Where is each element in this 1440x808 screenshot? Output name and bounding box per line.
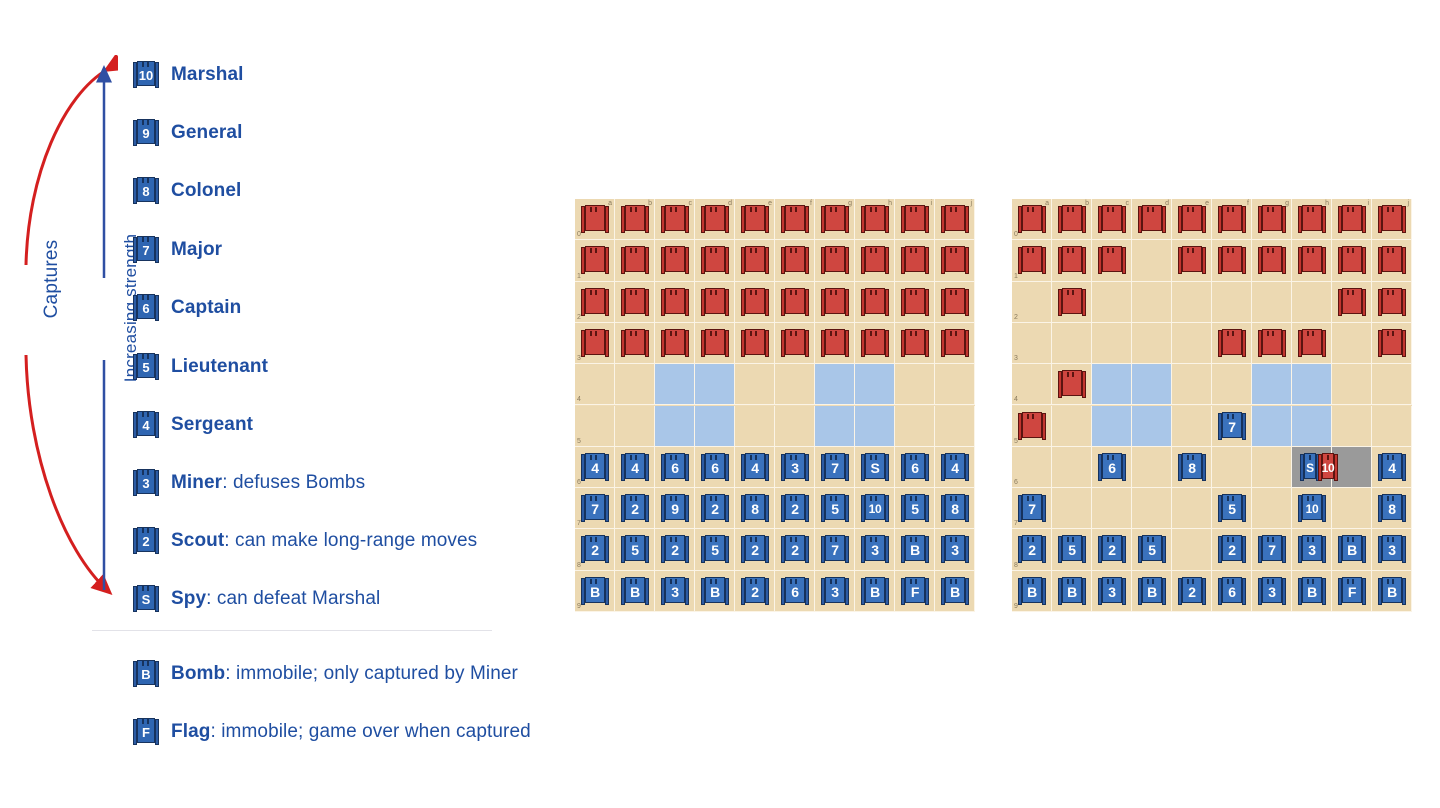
blue-piece[interactable]: 2 [1098, 534, 1126, 564]
red-piece[interactable] [861, 287, 889, 317]
red-piece[interactable] [1298, 204, 1326, 234]
board-cell[interactable] [735, 364, 775, 405]
piece-post-right [645, 454, 649, 481]
red-piece[interactable] [661, 245, 689, 275]
piece-crenellation [790, 331, 800, 336]
piece-post-right [885, 495, 889, 522]
red-piece[interactable] [781, 328, 809, 358]
piece-crenellation [630, 331, 640, 336]
red-piece[interactable] [661, 328, 689, 358]
blue-piece[interactable]: B [1018, 576, 1046, 606]
red-piece[interactable] [781, 245, 809, 275]
piece-post-right [1322, 536, 1326, 563]
board-cell[interactable] [855, 364, 895, 405]
board-cell[interactable] [1172, 364, 1212, 405]
board-cell[interactable] [1132, 240, 1172, 281]
piece-post-right [925, 578, 929, 605]
blue-piece[interactable]: B [1338, 534, 1366, 564]
blue-piece[interactable]: 5 [1218, 493, 1246, 523]
red-piece[interactable] [581, 204, 609, 234]
piece-body: 10 [1302, 494, 1322, 520]
piece-slot: B [615, 571, 655, 612]
blue-piece[interactable]: 10 [1298, 493, 1326, 523]
piece-rank-text: 2 [1188, 581, 1196, 599]
piece-body: 7 [825, 453, 845, 479]
blue-piece[interactable]: 8 [941, 493, 969, 523]
piece-rank-text: 7 [1028, 498, 1036, 516]
blue-piece[interactable]: S [861, 452, 889, 482]
piece-body [1262, 329, 1282, 355]
blue-piece[interactable]: 7 [821, 452, 849, 482]
blue-piece[interactable]: 4 [581, 452, 609, 482]
piece-post-right [1402, 289, 1406, 316]
blue-piece[interactable]: 2 [781, 493, 809, 523]
board-cell[interactable]: 4 [1012, 364, 1052, 405]
blue-piece[interactable]: 8 [1378, 493, 1406, 523]
mid-game-board[interactable]: a0bcdefghij1234567897684751082525273B3BB… [1012, 199, 1412, 612]
blue-piece[interactable]: 2 [621, 493, 649, 523]
piece-post-right [965, 206, 969, 233]
board-cell[interactable] [655, 406, 695, 447]
red-piece[interactable] [621, 245, 649, 275]
board-cell[interactable] [735, 406, 775, 447]
blue-piece[interactable]: B [941, 576, 969, 606]
piece-slot [1252, 240, 1292, 281]
piece-body: 6 [665, 453, 685, 479]
red-piece[interactable] [701, 204, 729, 234]
board-cell[interactable] [1212, 447, 1252, 488]
board-cell[interactable] [1132, 447, 1172, 488]
blue-piece[interactable]: 5 [901, 493, 929, 523]
red-piece[interactable] [1378, 204, 1406, 234]
blue-piece[interactable]: 3 [1378, 534, 1406, 564]
chip-post-right [155, 470, 159, 496]
blue-piece[interactable]: 5 [821, 493, 849, 523]
blue-piece[interactable]: B [1138, 576, 1166, 606]
board-cell[interactable] [1172, 282, 1212, 323]
piece-slot: 7 [815, 529, 855, 570]
blue-piece[interactable]: 5 [621, 534, 649, 564]
red-piece[interactable] [661, 204, 689, 234]
board-cell[interactable] [775, 364, 815, 405]
piece-post-right [1322, 247, 1326, 274]
board-cell[interactable] [1172, 488, 1212, 529]
board-cell[interactable] [935, 406, 975, 447]
red-piece[interactable] [1098, 245, 1126, 275]
piece-post-right [1322, 578, 1326, 605]
blue-piece[interactable]: B [1058, 576, 1086, 606]
piece-rank-text: B [1387, 581, 1397, 599]
chip-body: 9 [137, 119, 155, 144]
blue-piece[interactable]: 6 [1098, 452, 1126, 482]
piece-slot: B [1372, 571, 1412, 612]
rank-legend-panel: Captures Increasing strength 10Marshal9G… [0, 0, 560, 808]
board-cell[interactable] [775, 406, 815, 447]
board-cell[interactable] [895, 406, 935, 447]
piece-crenellation [1267, 331, 1277, 336]
piece-body: 2 [1102, 535, 1122, 561]
red-piece[interactable] [861, 204, 889, 234]
red-piece[interactable] [621, 328, 649, 358]
blue-piece[interactable]: 4 [941, 452, 969, 482]
red-piece[interactable] [1138, 204, 1166, 234]
piece-slot [855, 323, 895, 364]
red-piece[interactable] [1218, 204, 1246, 234]
piece-body: 5 [905, 494, 925, 520]
blue-piece[interactable]: 7 [1218, 411, 1246, 441]
piece-body: 5 [1142, 535, 1162, 561]
red-piece[interactable] [1018, 245, 1046, 275]
piece-slot [775, 282, 815, 323]
board-cell[interactable] [1212, 282, 1252, 323]
blue-piece[interactable]: 4 [621, 452, 649, 482]
piece-slot [735, 240, 775, 281]
piece-slot [655, 199, 695, 240]
board-cell[interactable] [1172, 323, 1212, 364]
piece-slot [1332, 240, 1372, 281]
red-piece[interactable] [941, 328, 969, 358]
red-piece[interactable] [1058, 204, 1086, 234]
piece-post-right [1322, 206, 1326, 233]
blue-piece[interactable]: 3 [1298, 534, 1326, 564]
piece-slot [615, 282, 655, 323]
board-cell[interactable] [615, 364, 655, 405]
red-piece[interactable] [741, 204, 769, 234]
board-cell[interactable] [1092, 364, 1132, 405]
blue-piece[interactable]: 3 [1258, 576, 1286, 606]
piece-slot: B [855, 571, 895, 612]
blue-piece[interactable]: 5 [1058, 534, 1086, 564]
blue-piece[interactable]: 4 [1378, 452, 1406, 482]
red-piece[interactable] [901, 204, 929, 234]
red-piece[interactable] [741, 328, 769, 358]
legend-special-row: BBomb: immobile; only captured by Miner [133, 657, 518, 691]
board-cell[interactable] [1332, 488, 1372, 529]
board-cell[interactable] [1172, 406, 1212, 447]
red-piece[interactable] [901, 287, 929, 317]
red-piece[interactable] [1058, 245, 1086, 275]
red-piece[interactable] [1298, 245, 1326, 275]
piece-slot: 8 [935, 488, 975, 529]
board-cell[interactable] [1252, 447, 1292, 488]
blue-piece[interactable]: 2 [1218, 534, 1246, 564]
piece-body: F [905, 577, 925, 603]
blue-piece[interactable]: 6 [661, 452, 689, 482]
piece-body: 8 [945, 494, 965, 520]
red-piece[interactable] [741, 245, 769, 275]
board-cell[interactable] [1132, 364, 1172, 405]
piece-post-right [1162, 206, 1166, 233]
board-cell[interactable] [1332, 323, 1372, 364]
red-piece[interactable] [941, 287, 969, 317]
piece-post-right [1042, 206, 1046, 233]
blue-piece[interactable]: F [901, 576, 929, 606]
blue-piece[interactable]: 2 [581, 534, 609, 564]
blue-piece[interactable]: 3 [1098, 576, 1126, 606]
piece-body [1062, 288, 1082, 314]
board-cell[interactable] [935, 364, 975, 405]
red-piece[interactable] [1058, 287, 1086, 317]
board-cell[interactable] [1252, 406, 1292, 447]
blue-piece[interactable]: 2 [661, 534, 689, 564]
board-cell[interactable]: 2 [1012, 282, 1052, 323]
piece-slot: 5 [615, 529, 655, 570]
piece-crenellation [1227, 207, 1237, 212]
red-piece[interactable] [781, 287, 809, 317]
blue-piece[interactable]: 8 [741, 493, 769, 523]
board-cell[interactable] [1332, 406, 1372, 447]
piece-body [1342, 288, 1362, 314]
red-piece[interactable] [1378, 287, 1406, 317]
piece-body: 3 [1262, 577, 1282, 603]
board-cell[interactable] [1292, 406, 1332, 447]
row-label: 4 [1014, 396, 1018, 403]
red-piece[interactable] [1378, 245, 1406, 275]
piece-slot: 3 [935, 529, 975, 570]
blue-piece[interactable]: B [581, 576, 609, 606]
piece-body [1302, 205, 1322, 231]
board-cell[interactable] [1052, 323, 1092, 364]
red-piece[interactable] [1258, 245, 1286, 275]
piece-rank-text: 2 [1108, 539, 1116, 557]
piece-crenellation [910, 331, 920, 336]
red-piece[interactable] [941, 245, 969, 275]
piece-post-right [685, 206, 689, 233]
piece-crenellation [1387, 290, 1397, 295]
red-piece[interactable] [1018, 411, 1046, 441]
initial-setup-board[interactable]: a0bcdefghij1234567894466437S647292825105… [575, 199, 975, 612]
piece-crenellation [950, 207, 960, 212]
piece-post-right [725, 289, 729, 316]
piece-crenellation [1307, 331, 1317, 336]
blue-piece[interactable]: 3 [821, 576, 849, 606]
red-piece[interactable] [1298, 328, 1326, 358]
board-cell[interactable] [1252, 282, 1292, 323]
red-piece[interactable] [1178, 204, 1206, 234]
piece-crenellation [830, 248, 840, 253]
blue-piece[interactable]: F [1338, 576, 1366, 606]
piece-rank-text: 8 [1388, 498, 1396, 516]
board-cell[interactable] [1212, 364, 1252, 405]
piece-slot: 6 [1212, 571, 1252, 612]
board-cell[interactable] [1372, 364, 1412, 405]
piece-slot: 8 [1372, 488, 1412, 529]
board-cell[interactable]: 4 [575, 364, 615, 405]
board-cell[interactable] [1332, 364, 1372, 405]
blue-piece[interactable]: B [701, 576, 729, 606]
board-cell[interactable] [1092, 406, 1132, 447]
red-piece[interactable] [1338, 245, 1366, 275]
piece-crenellation [630, 207, 640, 212]
blue-piece[interactable]: B [1378, 576, 1406, 606]
piece-rank-text: 3 [871, 539, 879, 557]
red-piece[interactable] [861, 245, 889, 275]
board-cell[interactable]: 6 [1012, 447, 1052, 488]
piece-post-right [1242, 206, 1246, 233]
red-piece[interactable] [901, 245, 929, 275]
blue-piece[interactable]: 10 [861, 493, 889, 523]
red-piece[interactable] [701, 245, 729, 275]
red-piece[interactable] [701, 328, 729, 358]
board-cell[interactable] [1252, 364, 1292, 405]
piece-slot: 7 [815, 447, 855, 488]
red-piece[interactable] [621, 204, 649, 234]
chip-post-right [155, 295, 159, 321]
board-cell[interactable] [695, 406, 735, 447]
piece-slot [735, 323, 775, 364]
red-piece[interactable] [821, 287, 849, 317]
board-cell[interactable]: 5 [575, 406, 615, 447]
piece-post-right [1082, 371, 1086, 398]
piece-slot: 6 [895, 447, 935, 488]
blue-piece[interactable]: 3 [661, 576, 689, 606]
red-piece[interactable] [821, 245, 849, 275]
red-piece[interactable] [821, 328, 849, 358]
piece-body: 6 [1102, 453, 1122, 479]
blue-piece[interactable]: 6 [901, 452, 929, 482]
blue-piece[interactable]: 2 [741, 576, 769, 606]
red-piece[interactable] [1378, 328, 1406, 358]
piece-post-right [1122, 454, 1126, 481]
board-cell[interactable] [1132, 488, 1172, 529]
board-cell[interactable] [815, 406, 855, 447]
blue-piece[interactable]: 3 [941, 534, 969, 564]
red-piece[interactable]: 10 [1318, 452, 1338, 482]
board-cell[interactable] [1292, 282, 1332, 323]
red-piece[interactable] [581, 245, 609, 275]
piece-post-right [885, 330, 889, 357]
blue-piece[interactable]: 6 [1218, 576, 1246, 606]
board-cell[interactable] [1092, 323, 1132, 364]
piece-crenellation [750, 207, 760, 212]
blue-piece[interactable]: 8 [1178, 452, 1206, 482]
board-cell[interactable] [1132, 406, 1172, 447]
blue-piece[interactable]: 9 [661, 493, 689, 523]
blue-piece[interactable]: 2 [1018, 534, 1046, 564]
blue-piece[interactable]: 7 [581, 493, 609, 523]
red-piece[interactable] [1338, 204, 1366, 234]
blue-piece[interactable]: 5 [701, 534, 729, 564]
blue-piece[interactable]: B [1298, 576, 1326, 606]
board-cell[interactable] [1292, 364, 1332, 405]
blue-piece[interactable]: 2 [701, 493, 729, 523]
piece-crenellation [1067, 290, 1077, 295]
blue-piece[interactable]: B [861, 576, 889, 606]
red-piece[interactable] [1258, 328, 1286, 358]
board-cell[interactable] [1132, 282, 1172, 323]
blue-piece[interactable]: 7 [1018, 493, 1046, 523]
red-piece[interactable] [581, 287, 609, 317]
red-piece[interactable] [1058, 369, 1086, 399]
blue-piece[interactable]: 2 [741, 534, 769, 564]
piece-slot: 5 [1052, 529, 1092, 570]
blue-piece[interactable]: 7 [1258, 534, 1286, 564]
board-cell[interactable] [855, 406, 895, 447]
red-piece[interactable] [1098, 204, 1126, 234]
red-piece[interactable] [1218, 245, 1246, 275]
board-cell[interactable] [695, 364, 735, 405]
blue-piece[interactable]: 3 [781, 452, 809, 482]
board-cell[interactable] [615, 406, 655, 447]
board-cell[interactable] [1092, 488, 1132, 529]
piece-slot [1212, 199, 1252, 240]
piece-chip-icon: S [133, 585, 159, 613]
blue-piece[interactable]: 2 [1178, 576, 1206, 606]
piece-slot [575, 282, 615, 323]
board-cell[interactable] [815, 364, 855, 405]
board-cell[interactable] [1052, 488, 1092, 529]
piece-rank-text: B [870, 581, 880, 599]
red-piece[interactable] [821, 204, 849, 234]
chip-rank-text: 5 [142, 358, 149, 374]
blue-piece[interactable]: B [901, 534, 929, 564]
red-piece[interactable] [741, 287, 769, 317]
red-piece[interactable] [781, 204, 809, 234]
board-cell[interactable] [1372, 406, 1412, 447]
blue-piece[interactable]: 6 [781, 576, 809, 606]
board-cell[interactable] [1172, 529, 1212, 570]
red-piece[interactable] [1218, 328, 1246, 358]
red-piece[interactable] [1338, 287, 1366, 317]
blue-piece[interactable]: 3 [861, 534, 889, 564]
piece-body [865, 205, 885, 231]
piece-crenellation [830, 331, 840, 336]
blue-piece[interactable]: B [621, 576, 649, 606]
red-piece[interactable] [1258, 204, 1286, 234]
blue-piece[interactable]: 2 [781, 534, 809, 564]
piece-slot [655, 282, 695, 323]
board-cell[interactable] [895, 364, 935, 405]
piece-rank-text: 7 [831, 539, 839, 557]
board-cell[interactable] [1052, 447, 1092, 488]
piece-post-right [1242, 247, 1246, 274]
piece-post-right [1202, 578, 1206, 605]
blue-piece[interactable]: 6 [701, 452, 729, 482]
blue-piece[interactable]: 4 [741, 452, 769, 482]
board-cell[interactable] [1052, 406, 1092, 447]
red-piece[interactable] [941, 204, 969, 234]
red-piece[interactable] [661, 287, 689, 317]
red-piece[interactable] [621, 287, 649, 317]
red-piece[interactable] [701, 287, 729, 317]
piece-chip-icon: B [133, 660, 159, 688]
chip-rank-text: 3 [142, 474, 149, 490]
red-piece[interactable] [581, 328, 609, 358]
blue-piece[interactable]: 7 [821, 534, 849, 564]
piece-body: B [1382, 577, 1402, 603]
board-cell[interactable] [1132, 323, 1172, 364]
red-piece[interactable] [861, 328, 889, 358]
red-piece[interactable] [901, 328, 929, 358]
chip-post-right [155, 719, 159, 745]
piece-slot: 3 [1092, 571, 1132, 612]
red-piece[interactable] [1178, 245, 1206, 275]
piece-rank-text: 3 [1388, 539, 1396, 557]
piece-body [1222, 246, 1242, 272]
piece-slot [695, 282, 735, 323]
piece-rank-text: 9 [671, 498, 679, 516]
board-cell[interactable]: 3 [1012, 323, 1052, 364]
piece-crenellation [1227, 331, 1237, 336]
blue-piece[interactable]: 5 [1138, 534, 1166, 564]
board-cell[interactable] [1092, 282, 1132, 323]
red-piece[interactable] [1018, 204, 1046, 234]
blue-piece[interactable]: S [1300, 452, 1320, 482]
board-cell[interactable] [1252, 488, 1292, 529]
piece-rank-text: 6 [791, 581, 799, 599]
board-cell[interactable] [655, 364, 695, 405]
chip-body: 8 [137, 177, 155, 202]
